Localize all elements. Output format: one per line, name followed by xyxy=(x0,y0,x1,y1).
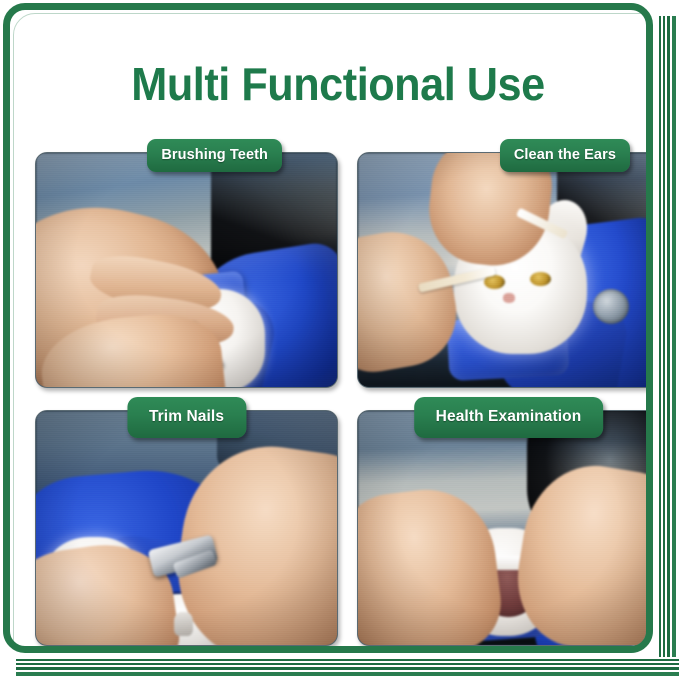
feature-tile-trim-nails[interactable]: Trim Nails xyxy=(35,410,338,646)
photo-health-examination xyxy=(357,410,653,646)
photo-vignette xyxy=(358,153,653,387)
feature-tile-health-examination[interactable]: Health Examination xyxy=(357,410,653,646)
frame-layer-stack-bottom xyxy=(16,657,679,679)
poster-frame: Multi Functional Use xyxy=(3,3,653,653)
photo-trim-nails xyxy=(35,410,338,646)
photo-vignette xyxy=(36,153,337,387)
badge-brushing-teeth[interactable]: Brushing Teeth xyxy=(147,139,282,172)
badge-health-examination[interactable]: Health Examination xyxy=(414,397,604,438)
feature-tile-clean-the-ears[interactable]: Clean the Ears xyxy=(357,152,653,388)
page-title-text: Multi Functional Use xyxy=(39,58,637,111)
badge-trim-nails[interactable]: Trim Nails xyxy=(127,397,246,438)
photo-vignette xyxy=(358,411,653,645)
frame-layer-stack-right xyxy=(657,16,679,679)
poster: Multi Functional Use xyxy=(0,0,679,679)
photo-brushing-teeth xyxy=(35,152,338,388)
photo-clean-the-ears xyxy=(357,152,653,388)
photo-vignette xyxy=(36,411,337,645)
page-title: Multi Functional Use xyxy=(20,58,653,111)
feature-grid: Brushing Teeth xyxy=(35,152,653,653)
feature-tile-brushing-teeth[interactable]: Brushing Teeth xyxy=(35,152,338,388)
badge-clean-the-ears[interactable]: Clean the Ears xyxy=(500,139,630,172)
